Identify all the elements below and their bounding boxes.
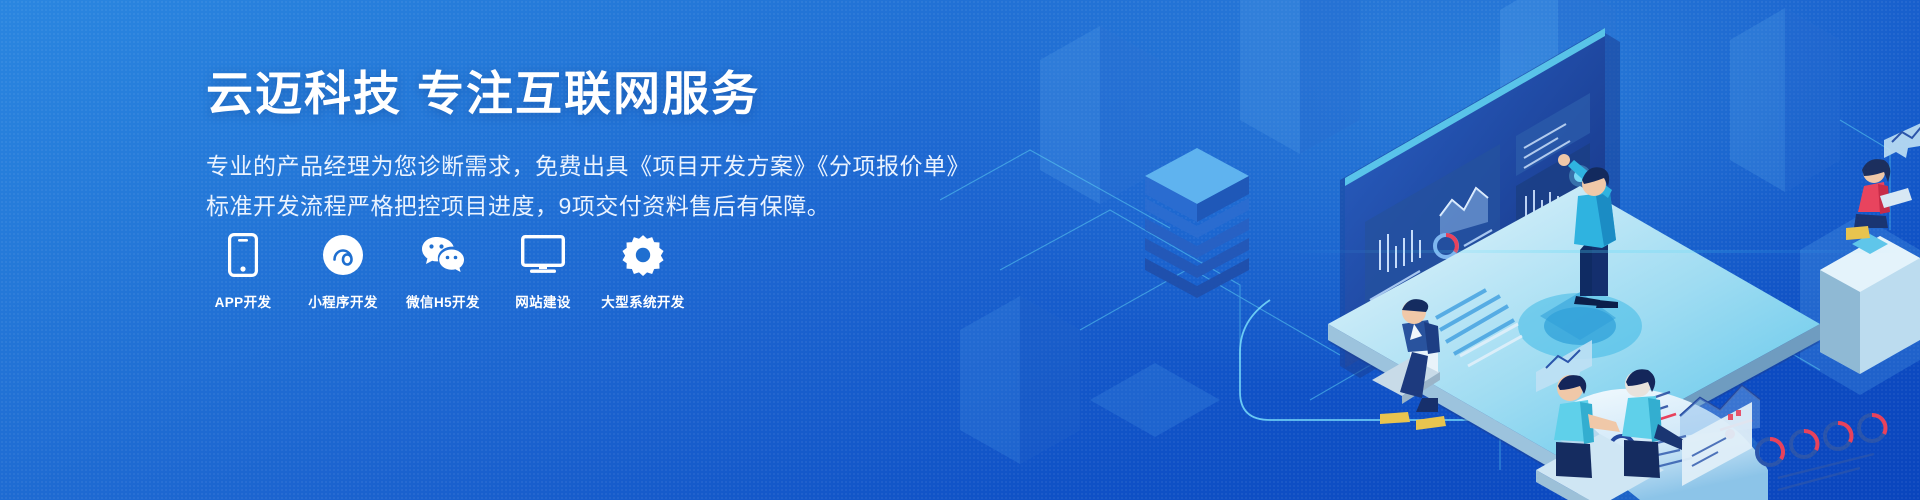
subtitle-line-1: 专业的产品经理为您诊断需求，免费出具《项目开发方案》《分项报价单》 — [206, 147, 906, 187]
mobile-phone-icon — [228, 232, 258, 278]
service-item-large-system[interactable]: 大型系统开发 — [606, 232, 680, 311]
service-label: 微信H5开发 — [406, 291, 480, 311]
seated-woman — [1846, 159, 1912, 240]
hero-illustration — [940, 0, 1920, 500]
mini-program-icon — [322, 232, 364, 278]
service-item-app[interactable]: APP开发 — [206, 232, 280, 311]
service-label: APP开发 — [215, 291, 272, 311]
service-icon-row: APP开发 小程序开发 微信 — [206, 232, 680, 311]
gear-icon — [622, 232, 664, 278]
monitor-icon — [521, 232, 565, 278]
service-item-website[interactable]: 网站建设 — [506, 232, 580, 311]
hero-subtitle: 专业的产品经理为您诊断需求，免费出具《项目开发方案》《分项报价单》 标准开发流程… — [206, 147, 906, 226]
wechat-icon — [420, 232, 466, 278]
hero-banner: 云迈科技 专注互联网服务 专业的产品经理为您诊断需求，免费出具《项目开发方案》《… — [0, 0, 1920, 500]
page-title: 云迈科技 专注互联网服务 — [206, 66, 906, 121]
service-label: 大型系统开发 — [601, 291, 684, 311]
service-item-wechat-h5[interactable]: 微信H5开发 — [406, 232, 480, 311]
service-label: 小程序开发 — [308, 291, 378, 311]
service-label: 网站建设 — [515, 291, 571, 311]
service-item-mini-program[interactable]: 小程序开发 — [306, 232, 380, 311]
hero-text-block: 云迈科技 专注互联网服务 专业的产品经理为您诊断需求，免费出具《项目开发方案》《… — [206, 66, 906, 227]
subtitle-line-2: 标准开发流程严格把控项目进度，9项交付资料售后有保障。 — [206, 187, 906, 227]
